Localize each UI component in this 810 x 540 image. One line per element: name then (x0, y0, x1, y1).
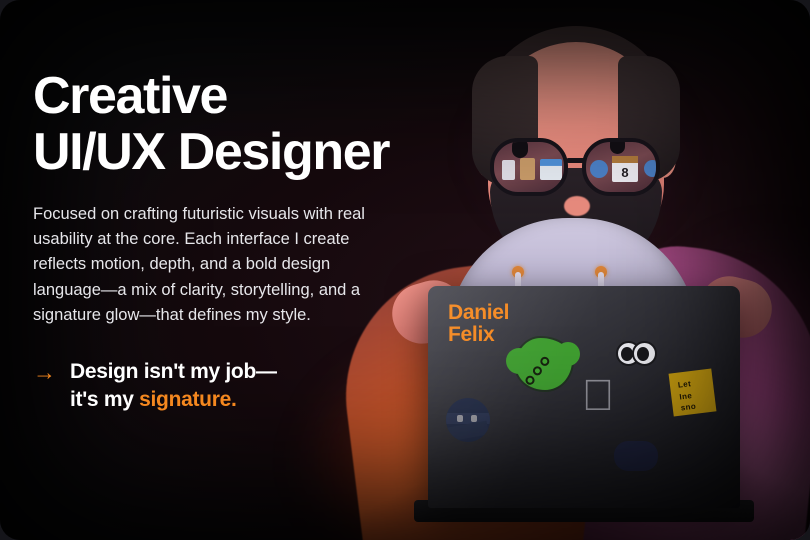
tagline-text: Design isn't my job— it's my signature. (70, 358, 277, 414)
tagline-line-1: Design isn't my job— (70, 358, 277, 386)
tagline-accent-word: signature. (139, 388, 236, 411)
page-title: Creative UI/UX Designer (33, 68, 453, 180)
headline-line-1: Creative (33, 67, 227, 125)
arrow-right-icon: → (33, 358, 56, 387)
poster-canvas: 8 Daniel Felix  Let Ine sno (0, 0, 810, 540)
tagline-prefix: it's my (70, 388, 139, 411)
tagline: → Design isn't my job— it's my signature… (33, 358, 453, 414)
intro-paragraph: Focused on crafting futuristic visuals w… (33, 202, 393, 327)
headline-line-2: UI/UX Designer (33, 124, 453, 180)
tagline-line-2: it's my signature. (70, 386, 277, 414)
copy-block: Creative UI/UX Designer Focused on craft… (33, 68, 453, 414)
